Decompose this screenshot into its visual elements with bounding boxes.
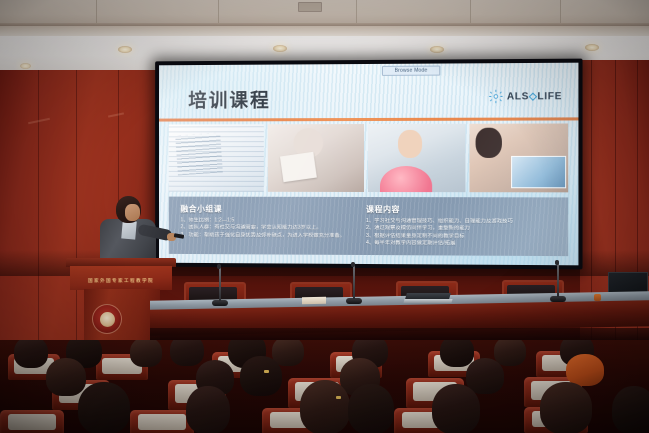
list-item: 4、每半年对教学内容做定期评估/拓展 bbox=[366, 240, 558, 248]
audience-head bbox=[612, 386, 649, 433]
ceiling-seam bbox=[356, 0, 357, 24]
ceiling-seam bbox=[218, 0, 219, 24]
paper-document bbox=[302, 297, 326, 304]
column-heading: 课程内容 bbox=[366, 204, 558, 216]
downlight-icon bbox=[430, 46, 444, 53]
gooseneck-microphone bbox=[352, 260, 356, 304]
auditorium-photo: Browse Mode 培训课程 bbox=[0, 0, 649, 433]
ceiling-seam bbox=[560, 0, 561, 24]
ceiling-cove bbox=[0, 26, 649, 36]
presenter-shirt bbox=[121, 220, 137, 239]
ceiling-seam bbox=[96, 0, 97, 24]
orange-cup bbox=[594, 294, 601, 301]
audience-head bbox=[14, 340, 48, 368]
gooseneck-microphone bbox=[556, 258, 560, 302]
audience-head-with-cap bbox=[566, 354, 604, 386]
list-item: 3、功能：帮助孩子强化自身优势及弥补缺点，为进入学校做充分准备。 bbox=[180, 232, 358, 240]
gooseneck-microphone bbox=[218, 262, 222, 306]
downlight-icon bbox=[585, 44, 599, 51]
course-info-panel: 融合小组课 1、师生比例：1:2—1:5 2、团队人群：有社交与沟通需要，学会认… bbox=[169, 197, 568, 257]
presenter-face bbox=[125, 204, 140, 221]
auditorium-seat bbox=[0, 410, 64, 433]
audience-head bbox=[432, 384, 480, 433]
audience-head bbox=[130, 340, 162, 367]
audience-head bbox=[240, 356, 282, 396]
alsolife-logo: ALS◇LIFE bbox=[489, 89, 563, 103]
audience-seating bbox=[0, 340, 649, 433]
course-column-left: 融合小组课 1、师生比例：1:2—1:5 2、团队人群：有社交与沟通需要，学会认… bbox=[180, 204, 358, 241]
person-writing-photo bbox=[268, 124, 364, 192]
audience-head bbox=[440, 340, 474, 367]
audience-head bbox=[540, 382, 592, 433]
ceiling-seam bbox=[470, 0, 471, 24]
teacher-with-pink-ball-photo bbox=[368, 124, 465, 192]
ceiling-panel bbox=[0, 0, 649, 24]
slide-surface: Browse Mode 培训课程 bbox=[159, 63, 578, 266]
column-list: 1、学习社交与沟通管理技巧、组织能力、自理能力及游戏技巧 2、通过观察及模仿同伴… bbox=[366, 218, 558, 249]
logo-text-left: ALS bbox=[507, 91, 529, 102]
audience-head bbox=[494, 340, 526, 366]
sunburst-icon bbox=[489, 89, 503, 103]
laptop-computer bbox=[404, 293, 452, 305]
downlight-icon bbox=[20, 63, 31, 69]
ceiling-vent bbox=[298, 2, 322, 12]
university-seal-emblem bbox=[92, 304, 122, 334]
audience-head bbox=[300, 380, 350, 433]
alsolife-wordmark: ALS◇LIFE bbox=[507, 91, 562, 102]
audience-head bbox=[186, 386, 230, 433]
slide-title: 培训课程 bbox=[188, 85, 270, 112]
column-heading: 融合小组课 bbox=[180, 204, 358, 215]
worksheet-document-photo bbox=[169, 124, 264, 192]
auditorium-seat bbox=[130, 410, 194, 433]
audience-head bbox=[348, 384, 394, 433]
downlight-icon bbox=[273, 45, 287, 52]
podium-face: 国家外国专家工程教学院 bbox=[70, 266, 172, 290]
column-list: 1、师生比例：1:2—1:5 2、团队人群：有社交与沟通需要，学会认知能力达3岁… bbox=[180, 217, 358, 240]
logo-text-right: LIFE bbox=[537, 91, 562, 102]
podium-plaque-text: 国家外国专家工程教学院 bbox=[78, 278, 164, 284]
audience-head bbox=[78, 382, 130, 433]
hair-clip-icon bbox=[264, 370, 269, 373]
projection-screen: Browse Mode 培训课程 bbox=[155, 59, 582, 270]
photo-strip bbox=[169, 123, 568, 192]
logo-diamond-icon: ◇ bbox=[529, 91, 537, 102]
downlight-icon bbox=[118, 46, 132, 53]
course-column-right: 课程内容 1、学习社交与沟通管理技巧、组织能力、自理能力及游戏技巧 2、通过观察… bbox=[366, 204, 558, 249]
teacher-reading-with-child-photo bbox=[470, 123, 569, 192]
hair-clip-icon bbox=[336, 396, 341, 399]
browse-mode-chip: Browse Mode bbox=[382, 66, 440, 76]
audience-head bbox=[170, 340, 204, 366]
audience-head bbox=[46, 358, 86, 396]
